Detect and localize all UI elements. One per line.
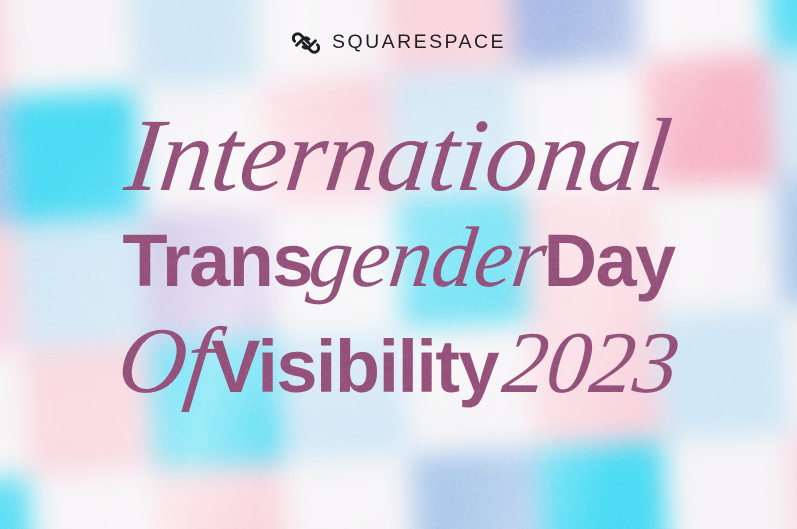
headline-word-of: Of — [113, 314, 218, 408]
headline-word-international: International — [121, 104, 676, 208]
headline-line-1: International — [0, 104, 797, 208]
headline-word-gender: gender — [305, 214, 551, 300]
headline-word-day: Day — [544, 224, 675, 298]
headline-line-2: Transgender Day — [0, 214, 797, 306]
poster-content: SQUARESPACE International Transgender Da… — [0, 0, 797, 529]
squarespace-wordmark: SQUARESPACE — [332, 33, 506, 53]
headline-year-2023: 2023 — [499, 320, 684, 408]
poster-canvas: SQUARESPACE International Transgender Da… — [0, 0, 797, 529]
squarespace-logo-icon — [291, 28, 321, 58]
headline-block: International Transgender Day Of Visibil… — [0, 104, 797, 406]
headline-line-3: Of Visibility 2023 — [0, 314, 797, 406]
headline-word-visibility: Visibility — [211, 330, 498, 404]
squarespace-logo-lockup: SQUARESPACE — [0, 28, 797, 58]
headline-word-trans: Trans — [122, 224, 311, 298]
